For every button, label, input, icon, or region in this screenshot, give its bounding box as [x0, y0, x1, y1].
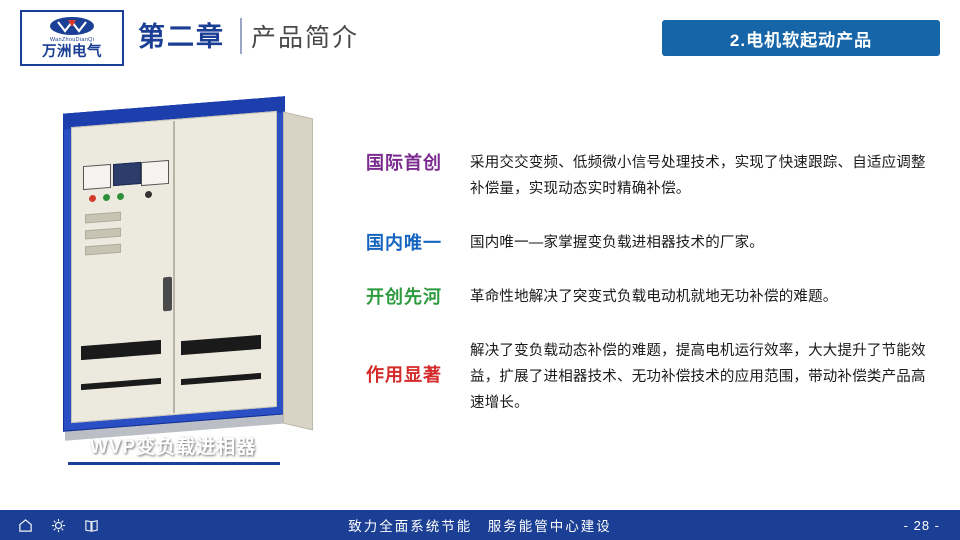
product-image: [55, 95, 325, 445]
book-icon[interactable]: [84, 518, 99, 533]
home-icon[interactable]: [18, 518, 33, 533]
slide: WanZhouDianQi 万洲电气 第二章 产品简介 2.电机软起动产品 WV…: [0, 0, 960, 540]
chapter-divider: [240, 18, 242, 54]
feature-label: 作用显著: [366, 338, 470, 388]
logo-mark-icon: [49, 16, 95, 36]
feature-text: 革命性地解决了突变式负载电动机就地无功补偿的难题。: [470, 284, 936, 310]
topic-tag: 2.电机软起动产品: [662, 20, 940, 56]
feature-list: 国际首创 采用交交变频、低频微小信号处理技术，实现了快速跟踪、自适应调整补偿量，…: [366, 150, 936, 444]
company-logo: WanZhouDianQi 万洲电气: [20, 10, 124, 66]
page-number: - 28 -: [904, 518, 940, 533]
gear-icon[interactable]: [51, 518, 66, 533]
footer-icon-group: [18, 518, 99, 533]
product-caption: WVP变负载进相器: [55, 432, 291, 459]
feature-item: 国内唯一 国内唯一—家掌握变负载进相器技术的厂家。: [366, 230, 936, 256]
feature-text: 采用交交变频、低频微小信号处理技术，实现了快速跟踪、自适应调整补偿量，实现动态实…: [470, 150, 936, 202]
feature-label: 国际首创: [366, 150, 470, 176]
chapter-title: 第二章: [138, 18, 225, 56]
feature-item: 作用显著 解决了变负载动态补偿的难题，提高电机运行效率，大大提升了节能效益，扩展…: [366, 338, 936, 416]
logo-brand-cn: 万洲电气: [42, 44, 102, 61]
feature-text: 解决了变负载动态补偿的难题，提高电机运行效率，大大提升了节能效益，扩展了进相器技…: [470, 338, 936, 416]
feature-text: 国内唯一—家掌握变负载进相器技术的厂家。: [470, 230, 936, 256]
feature-label: 开创先河: [366, 284, 470, 310]
footer-slogan: 致力全面系统节能 服务能管中心建设: [0, 515, 960, 535]
feature-label: 国内唯一: [366, 230, 470, 256]
feature-item: 开创先河 革命性地解决了突变式负载电动机就地无功补偿的难题。: [366, 284, 936, 310]
feature-item: 国际首创 采用交交变频、低频微小信号处理技术，实现了快速跟踪、自适应调整补偿量，…: [366, 150, 936, 202]
chapter-subtitle: 产品简介: [251, 20, 359, 56]
footer-bar: 致力全面系统节能 服务能管中心建设 - 28 -: [0, 510, 960, 540]
topic-tag-label: 2.电机软起动产品: [730, 26, 872, 51]
logo-brand-en: WanZhouDianQi: [50, 37, 94, 44]
caption-underline: [68, 462, 280, 465]
